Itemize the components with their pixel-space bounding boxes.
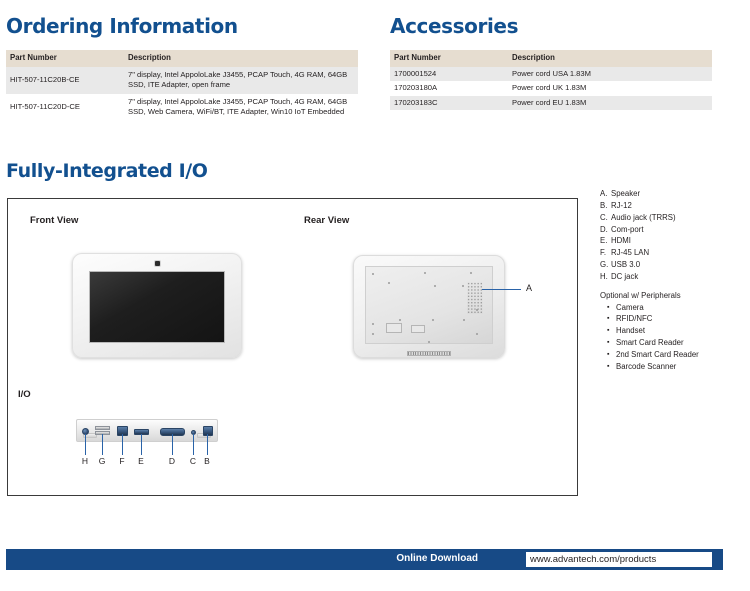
leader-line-h: [85, 434, 86, 455]
table-row: HIT-507-11C20D-CE 7" display, Intel Appo…: [6, 94, 358, 121]
cell-description: 7" display, Intel AppoloLake J3455, PCAP…: [124, 67, 358, 94]
bullet-icon: ▪: [607, 349, 616, 361]
bullet-icon: ▪: [607, 337, 616, 349]
screw-icon: [462, 285, 464, 287]
column-header-part-number: Part Number: [6, 50, 124, 67]
legend-value: USB 3.0: [611, 259, 750, 271]
optional-peripheral-item: ▪ Smart Card Reader: [600, 337, 750, 349]
io-letter-b: B: [201, 456, 213, 466]
optional-peripheral-item: ▪ 2nd Smart Card Reader: [600, 349, 750, 361]
callout-label-a: A: [526, 283, 532, 293]
optional-peripheral-label: Smart Card Reader: [616, 337, 684, 349]
cell-part-number: 170203183C: [390, 96, 508, 110]
bullet-icon: ▪: [607, 325, 616, 337]
table-header-row: Part Number Description: [6, 50, 358, 67]
screw-icon: [432, 319, 434, 321]
legend-item: C. Audio jack (TRRS): [600, 212, 750, 224]
io-legend-list: A. Speaker B. RJ-12 C. Audio jack (TRRS)…: [600, 188, 750, 373]
io-panel-image: H G F E D C B: [66, 417, 226, 449]
column-header-part-number: Part Number: [390, 50, 508, 67]
callout-line-speaker: [482, 289, 521, 290]
speaker-grille-icon: [467, 282, 483, 314]
optional-peripheral-item: ▪ Handset: [600, 325, 750, 337]
bullet-icon: ▪: [607, 302, 616, 314]
ordering-information-table: Part Number Description HIT-507-11C20B-C…: [6, 50, 358, 121]
table-row: HIT-507-11C20B-CE 7" display, Intel Appo…: [6, 67, 358, 94]
fully-integrated-io-heading: Fully-Integrated I/O: [6, 160, 208, 182]
cell-part-number: HIT-507-11C20D-CE: [6, 94, 124, 121]
legend-value: Audio jack (TRRS): [611, 212, 750, 224]
bullet-icon: ▪: [607, 361, 616, 373]
usb-port: [95, 426, 110, 430]
optional-peripheral-item: ▪ RFID/NFC: [600, 313, 750, 325]
io-letter-d: D: [166, 456, 178, 466]
online-download-label: Online Download: [396, 553, 478, 564]
column-header-description: Description: [508, 50, 712, 67]
leader-line-e: [141, 434, 142, 455]
ordering-information-heading: Ordering Information: [6, 14, 238, 38]
leader-line-b: [207, 434, 208, 455]
legend-value: Speaker: [611, 188, 750, 200]
rear-view-label: Rear View: [304, 215, 349, 226]
display-screen: [89, 271, 225, 343]
io-letter-e: E: [135, 456, 147, 466]
io-panel-body: [76, 419, 218, 442]
io-letter-c: C: [187, 456, 199, 466]
table-row: 170203180A Power cord UK 1.83M: [390, 81, 712, 95]
legend-key: A.: [600, 188, 611, 200]
legend-value: HDMI: [611, 235, 750, 247]
optional-peripheral-label: RFID/NFC: [616, 313, 652, 325]
legend-key: F.: [600, 247, 611, 259]
rj12-port: [203, 426, 213, 436]
cell-description: Power cord UK 1.83M: [508, 81, 712, 95]
legend-item: H. DC jack: [600, 271, 750, 283]
screw-icon: [372, 323, 374, 325]
bottom-connector-strip: [407, 351, 451, 356]
screw-icon: [463, 319, 465, 321]
cell-description: Power cord EU 1.83M: [508, 96, 712, 110]
optional-peripheral-item: ▪ Camera: [600, 302, 750, 314]
legend-item: D. Com-port: [600, 224, 750, 236]
leader-line-f: [122, 434, 123, 455]
optional-peripheral-label: Handset: [616, 325, 645, 337]
bullet-icon: ▪: [607, 313, 616, 325]
cell-part-number: 170203180A: [390, 81, 508, 95]
accessories-table: Part Number Description 1700001524 Power…: [390, 50, 712, 110]
leader-line-d: [172, 434, 173, 455]
optional-peripherals-title: Optional w/ Peripherals: [600, 290, 750, 302]
product-diagram-panel: Front View Rear View I/O: [7, 198, 578, 496]
legend-key: C.: [600, 212, 611, 224]
datasheet-page: Ordering Information Part Number Descrip…: [0, 0, 750, 591]
screw-icon: [476, 333, 478, 335]
cell-description: Power cord USA 1.83M: [508, 67, 712, 81]
legend-value: Com-port: [611, 224, 750, 236]
screw-icon: [476, 309, 478, 311]
cell-part-number: 1700001524: [390, 67, 508, 81]
optional-peripheral-label: Camera: [616, 302, 644, 314]
screw-icon: [424, 272, 426, 274]
screw-icon: [428, 341, 430, 343]
legend-key: G.: [600, 259, 611, 271]
footer-url-link[interactable]: www.advantech.com/products: [530, 554, 656, 565]
legend-item: B. RJ-12: [600, 200, 750, 212]
leader-line-c: [193, 434, 194, 455]
camera-icon: [155, 261, 160, 266]
screw-icon: [372, 273, 374, 275]
legend-item: A. Speaker: [600, 188, 750, 200]
optional-peripheral-item: ▪ Barcode Scanner: [600, 361, 750, 373]
screw-icon: [372, 333, 374, 335]
table-header-row: Part Number Description: [390, 50, 712, 67]
legend-value: RJ-45 LAN: [611, 247, 750, 259]
vesa-mount-cutout: [386, 323, 402, 333]
screw-icon: [470, 272, 472, 274]
io-letter-g: G: [96, 456, 108, 466]
legend-key: H.: [600, 271, 611, 283]
table-row: 170203183C Power cord EU 1.83M: [390, 96, 712, 110]
io-letter-f: F: [116, 456, 128, 466]
optional-peripheral-label: Barcode Scanner: [616, 361, 676, 373]
column-header-description: Description: [124, 50, 358, 67]
legend-item: E. HDMI: [600, 235, 750, 247]
rear-view-device-image: [353, 255, 505, 358]
legend-key: E.: [600, 235, 611, 247]
front-view-label: Front View: [30, 215, 78, 226]
io-letter-h: H: [79, 456, 91, 466]
rear-plate: [365, 266, 493, 344]
legend-value: RJ-12: [611, 200, 750, 212]
screw-icon: [388, 282, 390, 284]
accessories-heading: Accessories: [390, 14, 518, 38]
screw-icon: [399, 319, 401, 321]
optional-peripheral-label: 2nd Smart Card Reader: [616, 349, 699, 361]
table-row: 1700001524 Power cord USA 1.83M: [390, 67, 712, 81]
cell-part-number: HIT-507-11C20B-CE: [6, 67, 124, 94]
legend-key: D.: [600, 224, 611, 236]
front-view-device-image: [72, 253, 242, 358]
legend-key: B.: [600, 200, 611, 212]
io-section-label: I/O: [18, 389, 31, 400]
legend-value: DC jack: [611, 271, 750, 283]
legend-item: G. USB 3.0: [600, 259, 750, 271]
legend-item: F. RJ-45 LAN: [600, 247, 750, 259]
leader-line-g: [102, 434, 103, 455]
vesa-mount-cutout: [411, 325, 425, 333]
cell-description: 7" display, Intel AppoloLake J3455, PCAP…: [124, 94, 358, 121]
screw-icon: [434, 285, 436, 287]
